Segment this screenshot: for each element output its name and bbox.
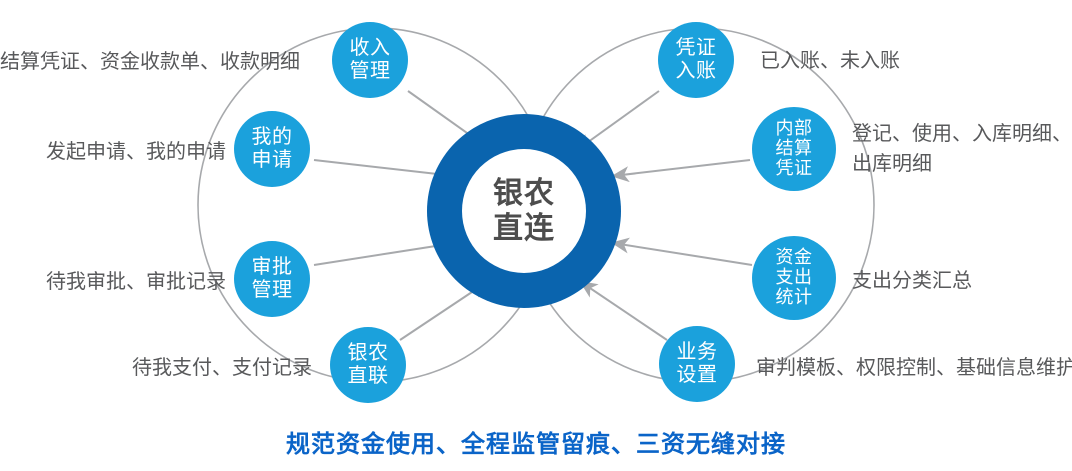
node-approval-management-line-1: 审批 (252, 256, 293, 279)
node-expenditure-statistics-line-1: 资金 (776, 248, 813, 268)
center-hub-line-2: 直连 (493, 211, 555, 246)
label-internal-settlement-voucher-line-2: 出库明细 (852, 149, 1072, 179)
node-expenditure-statistics-line-2: 支出 (776, 268, 813, 288)
node-business-settings-line-2: 设置 (677, 364, 718, 387)
arrow-internal-settlement-voucher (613, 160, 750, 176)
label-my-application: 发起申请、我的申请 (0, 137, 226, 167)
label-income-management: 结算凭证、资金收款单、收款明细 (0, 47, 296, 77)
label-bank-village-direct: 待我支付、支付记录 (0, 353, 312, 383)
label-income-management-text: 结算凭证、资金收款单、收款明细 (0, 47, 296, 77)
node-my-application[interactable]: 我的 申请 (234, 111, 310, 187)
label-internal-settlement-voucher-line-1: 登记、使用、入库明细、 (852, 119, 1072, 149)
arrow-expenditure-statistics (613, 243, 752, 265)
label-business-settings: 审判模板、权限控制、基础信息维护 (756, 353, 1072, 383)
node-bank-village-direct-line-2: 直联 (348, 365, 389, 388)
node-my-application-line-2: 申请 (252, 149, 293, 172)
label-my-application-text: 发起申请、我的申请 (0, 137, 226, 167)
node-internal-settlement-voucher-line-3: 凭证 (776, 159, 813, 179)
node-bank-village-direct-line-1: 银农 (348, 342, 389, 365)
node-income-management[interactable]: 收入 管理 (332, 22, 408, 98)
arrow-business-settings (581, 282, 667, 340)
label-approval-management-text: 待我审批、审批记录 (0, 267, 226, 297)
node-approval-management-line-2: 管理 (252, 279, 293, 302)
label-voucher-entry-line-1: 已入账、未入账 (760, 46, 900, 76)
label-approval-management: 待我审批、审批记录 (0, 267, 226, 297)
center-hub-line-1: 银农 (493, 176, 555, 211)
diagram-caption: 规范资金使用、全程监管留痕、三资无缝对接 (0, 424, 1072, 459)
node-expenditure-statistics-line-3: 统计 (776, 288, 813, 308)
node-business-settings-line-1: 业务 (677, 341, 718, 364)
center-hub: 银农 直连 (427, 114, 621, 308)
node-internal-settlement-voucher-line-1: 内部 (776, 119, 813, 139)
node-business-settings[interactable]: 业务 设置 (659, 326, 735, 402)
label-voucher-entry: 已入账、未入账 (760, 46, 900, 76)
label-internal-settlement-voucher: 登记、使用、入库明细、 出库明细 (852, 119, 1072, 179)
label-bank-village-direct-text: 待我支付、支付记录 (0, 353, 312, 383)
node-my-application-line-1: 我的 (252, 126, 293, 149)
label-expenditure-statistics-line-1: 支出分类汇总 (852, 266, 972, 296)
label-expenditure-statistics: 支出分类汇总 (852, 266, 972, 296)
node-income-management-line-2: 管理 (350, 60, 391, 83)
center-hub-label: 银农 直连 (462, 149, 586, 273)
node-voucher-entry-line-1: 凭证 (676, 37, 717, 60)
node-income-management-line-1: 收入 (350, 37, 391, 60)
diagram-canvas: 银农 直连 收入 管理 我的 申请 审批 管理 银农 直联 凭证 入账 内部 结… (0, 0, 1072, 471)
node-voucher-entry-line-2: 入账 (676, 60, 717, 83)
node-approval-management[interactable]: 审批 管理 (234, 241, 310, 317)
node-internal-settlement-voucher-line-2: 结算 (776, 139, 813, 159)
node-voucher-entry[interactable]: 凭证 入账 (658, 22, 734, 98)
node-internal-settlement-voucher[interactable]: 内部 结算 凭证 (752, 107, 836, 191)
node-expenditure-statistics[interactable]: 资金 支出 统计 (752, 236, 836, 320)
label-business-settings-line-1: 审判模板、权限控制、基础信息维护 (756, 353, 1072, 383)
node-bank-village-direct[interactable]: 银农 直联 (330, 327, 406, 403)
